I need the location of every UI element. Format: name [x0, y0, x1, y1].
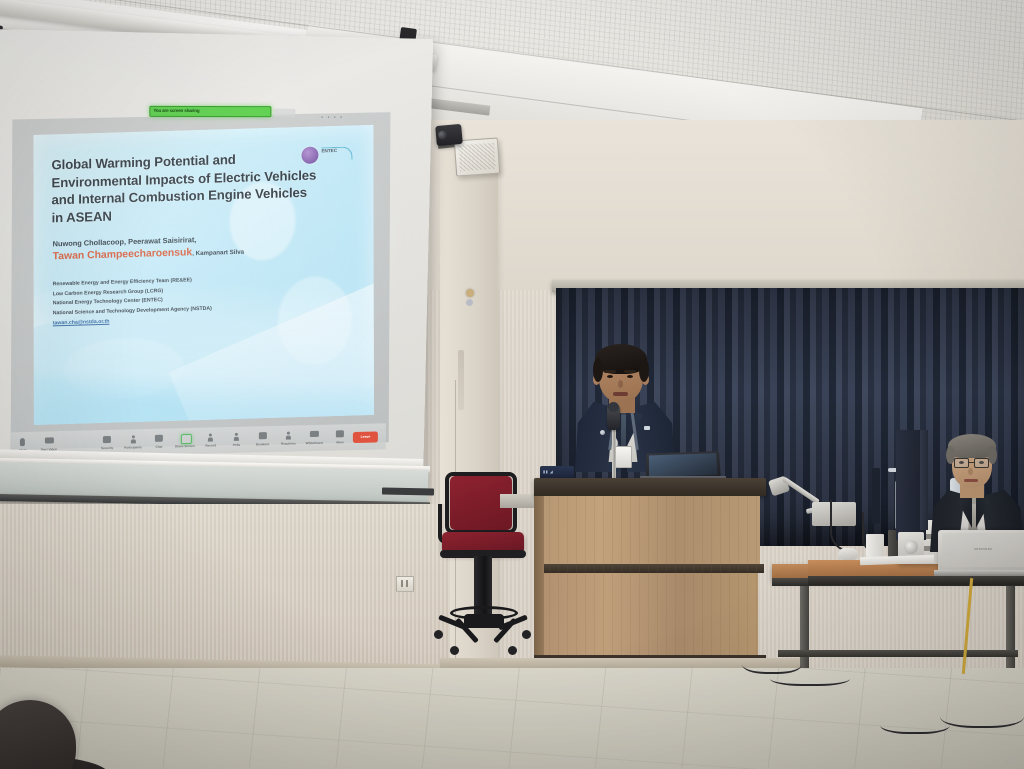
toolbar-label: Breakout	[256, 442, 269, 446]
presenter-hair-side	[593, 358, 603, 382]
lectern-side-panel	[534, 496, 544, 656]
toolbar-label: Whiteboard	[306, 440, 323, 444]
toolbar-label: Share Screen	[175, 443, 195, 447]
laptop-hinge	[934, 570, 1024, 576]
eyeglasses-icon	[954, 458, 969, 468]
presenter-eyebrow	[604, 370, 616, 373]
record-icon	[207, 434, 215, 442]
organization-logo: ENTEC	[301, 145, 355, 167]
toolbar-item-breakout[interactable]: Breakout	[249, 432, 275, 446]
toolbar-label: More	[336, 440, 343, 444]
projection-screen: Global Warming Potential and Environment…	[0, 29, 433, 491]
whiteboard-icon	[310, 431, 318, 439]
chair-caster	[508, 646, 517, 655]
laptop-screen	[649, 453, 718, 477]
presenter-eye	[607, 375, 613, 378]
upper-right-wall	[430, 120, 1024, 290]
toolbar-item-chat[interactable]: Chat	[146, 435, 172, 449]
eyeglasses-bridge	[969, 462, 974, 463]
microphone-windscreen	[608, 402, 619, 412]
ellipsis-icon	[336, 431, 344, 439]
camera-icon	[45, 438, 53, 446]
slide-affiliations: Renewable Energy and Energy Efficiency T…	[53, 272, 333, 328]
presenter-eyebrow	[624, 370, 636, 373]
projector-icon	[435, 124, 463, 146]
lectern	[534, 478, 766, 676]
outlet-slot	[406, 580, 408, 587]
slide-author-trailing: , Kampanart Silva	[192, 249, 244, 258]
power-outlet	[396, 576, 414, 592]
paper-cup	[866, 534, 884, 558]
toolbar-item-record[interactable]: Record	[198, 434, 224, 448]
presentation-room-photo: Global Warming Potential and Environment…	[0, 0, 1024, 769]
computer-mouse[interactable]	[838, 548, 858, 560]
presentation-slide: Global Warming Potential and Environment…	[33, 125, 373, 425]
eyeglasses-icon	[974, 458, 989, 468]
logo-circle-icon	[301, 146, 318, 164]
wall-column-slot	[458, 350, 464, 410]
leave-label: Leave	[361, 435, 371, 439]
toolbar-item-polls[interactable]: Polls	[224, 433, 250, 447]
outlet-slot	[401, 580, 403, 587]
leave-meeting-button[interactable]: Leave	[353, 431, 378, 443]
chair-caster	[434, 630, 443, 639]
cable	[830, 500, 854, 552]
wall-sensor-icon	[466, 289, 474, 297]
device-label-icon: ▮▮ ◢	[543, 469, 553, 474]
presenter-eye	[627, 375, 633, 378]
screen-share-indicator: You are screen sharing	[149, 106, 271, 117]
presenter-nose	[618, 380, 623, 388]
laptop-brand-label: ▭▭▭▭	[974, 546, 992, 552]
presenter-hair-side	[639, 358, 649, 382]
slide-title: Global Warming Potential and Environment…	[51, 148, 319, 226]
lectern-top	[534, 478, 766, 496]
toolbar-item-security[interactable]: Security	[94, 436, 120, 450]
microphone-icon	[19, 438, 27, 446]
speaker-grill	[458, 143, 496, 171]
chair-caster	[450, 646, 459, 655]
presenter-mouth	[613, 392, 628, 396]
toolbar-label: Security	[101, 445, 113, 449]
table-lower-shelf	[778, 650, 1018, 657]
logo-label: ENTEC	[321, 148, 337, 155]
participants-icon	[129, 436, 137, 444]
wall-sensor-icon	[466, 299, 473, 306]
floor-cable	[880, 712, 950, 734]
board-eraser	[382, 488, 434, 496]
toolbar-label: Reactions	[281, 441, 296, 445]
toolbar-item-participants[interactable]: Participants	[120, 435, 146, 449]
toolbar-label: Chat	[155, 444, 162, 448]
seated-mouth	[964, 479, 978, 482]
presenter-lapel-pin-icon	[600, 430, 605, 435]
chat-icon	[155, 435, 163, 443]
toolbar-item-whiteboard[interactable]: Whiteboard	[301, 431, 327, 445]
presenter-name-badge	[615, 446, 632, 468]
shield-icon	[103, 436, 111, 444]
breakout-icon	[258, 433, 266, 441]
slide-author-highlight: Tawan Champeecharoensuk	[53, 247, 193, 262]
projector-lens	[438, 130, 448, 140]
toolbar-label: Record	[205, 443, 216, 447]
stop-share-button[interactable]	[273, 109, 295, 117]
presenter-lapel-tag-icon	[644, 426, 650, 430]
front-desk-edge	[808, 576, 1024, 585]
toolbar-item-share-screen[interactable]: Share Screen	[172, 434, 198, 448]
toolbar-label: Polls	[233, 442, 240, 446]
toolbar-spacer	[62, 443, 95, 444]
seated-person-laptop[interactable]: ▭▭▭▭	[938, 530, 1024, 572]
chair-caster	[522, 630, 531, 639]
window-controls-icon: • • • •	[321, 115, 343, 121]
seated-nose	[968, 468, 973, 475]
share-screen-icon	[181, 434, 189, 442]
dark-divider-panel	[920, 430, 928, 530]
floor-tile-lines	[0, 668, 1024, 769]
lectern-wood-grain	[540, 496, 760, 655]
poll-icon	[233, 433, 241, 441]
floor-cable	[770, 668, 850, 686]
toolbar-item-reactions[interactable]: Reactions	[275, 432, 301, 446]
device-dial-icon	[904, 540, 918, 554]
seated-hair-side	[988, 446, 997, 464]
toolbar-item-more[interactable]: More	[327, 430, 353, 444]
screen-share-label: You are screen sharing	[153, 108, 199, 113]
reactions-icon	[284, 432, 292, 440]
floor-cable	[940, 700, 1024, 728]
toolbar-label: Participants	[124, 445, 142, 449]
